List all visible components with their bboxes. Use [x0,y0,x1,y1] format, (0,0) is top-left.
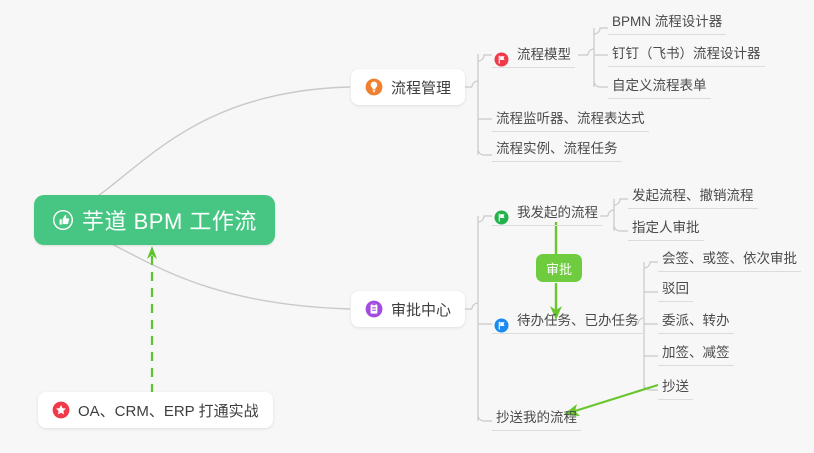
leaf-label: 加签、减签 [662,343,730,365]
leaf-node-bpmn-designer[interactable]: BPMN 流程设计器 [608,8,726,35]
leaf-node-cc-to-me[interactable]: 抄送我的流程 [492,404,581,431]
leaf-node-dingtalk-designer[interactable]: 钉钉（飞书）流程设计器 [608,40,765,67]
branch-node-process-management[interactable]: 流程管理 [351,69,465,105]
approval-tag[interactable]: 审批 [536,254,582,282]
leaf-node-start-cancel-process[interactable]: 发起流程、撤销流程 [628,182,758,209]
flag-icon [494,318,509,333]
leaf-label: 发起流程、撤销流程 [632,186,754,208]
leaf-node-my-started-process[interactable]: 我发起的流程 [492,199,602,226]
leaf-label: 我发起的流程 [517,203,598,225]
leaf-node-reject[interactable]: 驳回 [658,275,693,302]
edge-process-management-bracket [463,54,492,155]
leaf-label: 流程监听器、流程表达式 [496,109,645,131]
flag-icon [494,210,509,225]
edge-process-model-bracket [578,28,608,87]
leaf-node-todo-done-tasks[interactable]: 待办任务、已办任务 [492,307,643,334]
leaf-node-process-instance[interactable]: 流程实例、流程任务 [492,135,622,162]
leaf-node-delegate-transfer[interactable]: 委派、转办 [658,307,734,334]
root-node[interactable]: 芋道 BPM 工作流 [34,195,275,245]
flag-icon [494,52,509,67]
branch-label: 审批中心 [391,299,451,320]
leaf-label: 驳回 [662,279,689,301]
leaf-node-cc[interactable]: 抄送 [658,373,693,400]
leaf-node-designated-approval[interactable]: 指定人审批 [628,214,704,241]
leaf-label: 抄送我的流程 [496,408,577,430]
root-label: 芋道 BPM 工作流 [82,204,257,236]
leaf-label: 会签、或签、依次审批 [662,249,797,271]
leaf-label: 抄送 [662,377,689,399]
leaf-label: 指定人审批 [632,218,700,240]
branch-node-approval-center[interactable]: 审批中心 [351,291,465,327]
leaf-label: 委派、转办 [662,311,730,333]
clipboard-icon [365,300,383,318]
mindmap-canvas: 芋道 BPM 工作流 流程管理 审批中心 [0,0,814,453]
thumbs-up-icon [52,209,74,231]
edge-approval-center-bracket [463,216,492,421]
branch-label: 流程管理 [391,77,451,98]
lightbulb-icon [365,78,383,96]
leaf-label: BPMN 流程设计器 [612,12,722,34]
leaf-node-process-listener[interactable]: 流程监听器、流程表达式 [492,105,649,132]
leaf-node-countersign[interactable]: 会签、或签、依次审批 [658,245,801,272]
star-icon [52,401,70,419]
approval-tag-label: 审批 [546,259,572,278]
arrow-bottom-note-to-root [147,246,157,393]
edge-my-started-bracket [600,199,628,231]
leaf-node-custom-form[interactable]: 自定义流程表单 [608,72,711,99]
leaf-label: 待办任务、已办任务 [517,311,639,333]
bottom-note-label: OA、CRM、ERP 打通实战 [78,400,259,421]
leaf-node-process-model[interactable]: 流程模型 [492,41,575,68]
leaf-label: 流程实例、流程任务 [496,139,618,161]
bottom-note-node[interactable]: OA、CRM、ERP 打通实战 [38,392,273,428]
leaf-label: 流程模型 [517,45,571,67]
leaf-node-add-remove-sign[interactable]: 加签、减签 [658,339,734,366]
leaf-label: 自定义流程表单 [612,76,707,98]
leaf-label: 钉钉（飞书）流程设计器 [612,44,761,66]
